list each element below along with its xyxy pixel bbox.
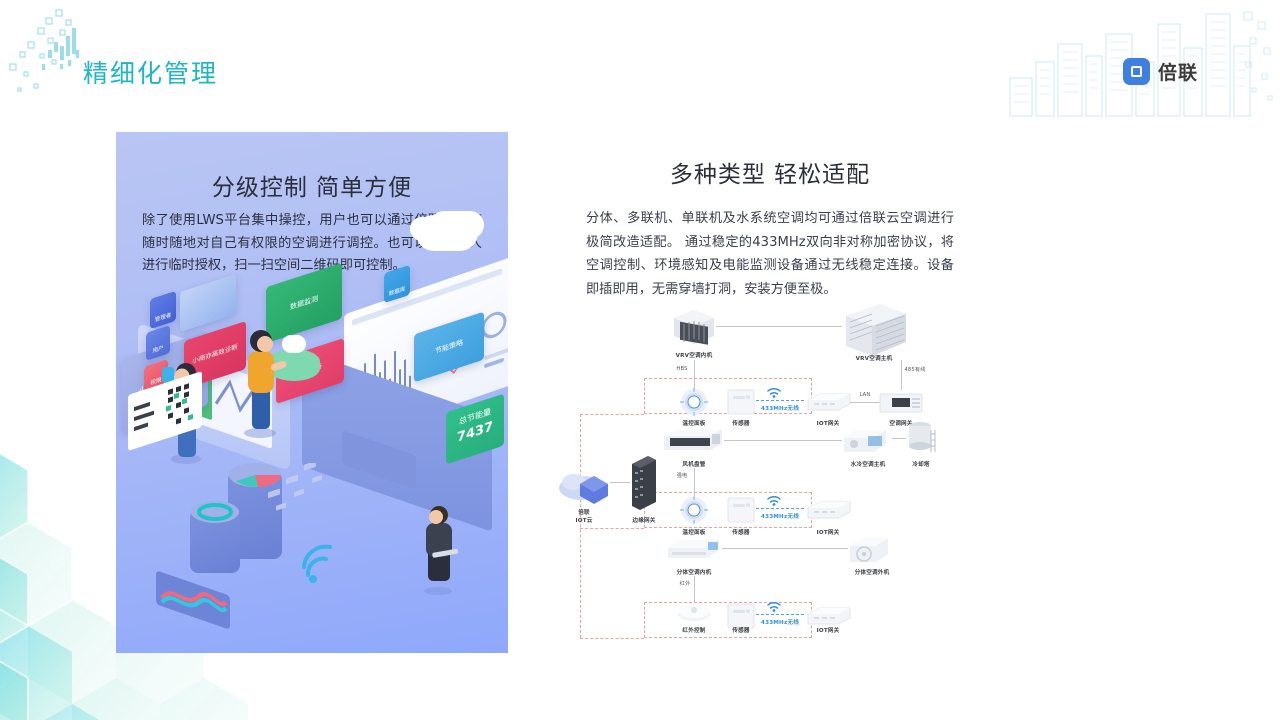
- edge-gateway-label: 边缘网关: [632, 516, 655, 524]
- row3-iot-gateway-label: IOT网关: [817, 626, 840, 634]
- sensor-icon: [726, 494, 756, 524]
- row1-hbs-label: HBS: [676, 366, 687, 372]
- group-connector: [580, 638, 644, 639]
- vrv-indoor-unit-icon: [670, 308, 718, 348]
- thermostat-panel-icon: [680, 388, 708, 416]
- person-illustration: [232, 325, 292, 443]
- edge-gateway-icon: [628, 452, 660, 512]
- data-transfer-dots: [266, 463, 346, 517]
- cloud-label-line2: IOT云: [575, 516, 592, 524]
- row2-rf-link: [756, 508, 804, 509]
- group-connector: [580, 414, 581, 638]
- wire-row1-485: [901, 360, 902, 390]
- row1-outdoor-label: VRV空调主机: [856, 354, 893, 362]
- row2-extra-label: 冷却塔: [912, 460, 929, 468]
- group-connector: [580, 414, 644, 415]
- page-header: 精细化管理 倍联: [0, 0, 1280, 118]
- rounded-square-icon: [1123, 58, 1150, 85]
- row3-rf-link: [756, 614, 804, 615]
- wire-row1-indoor-outdoor: [716, 326, 842, 327]
- row3-ir-link-label: 红外: [680, 580, 691, 587]
- row2-power-label: 强电: [677, 472, 688, 479]
- sensor-icon: [726, 386, 756, 416]
- split-outdoor-unit-icon: [846, 534, 894, 566]
- row2-outdoor-label: 水冷空调主机: [851, 460, 886, 468]
- network-topology-diagram: 倍联 IOT云 边缘网关 VRV空调内机: [548, 300, 968, 650]
- ac-gateway-icon: [878, 390, 924, 414]
- row1-lan-label: LAN: [859, 392, 870, 398]
- group-connector: [580, 528, 644, 529]
- wifi-icon: [766, 386, 782, 398]
- split-indoor-unit-icon: [664, 536, 724, 564]
- wire-row3-ir: [694, 576, 695, 602]
- slide-root: 精细化管理 倍联 分级控制 简单方便 除了使用LWS平台集中操控，用户也可以通过…: [0, 0, 1280, 720]
- row3-outdoor-label: 分体空调外机: [855, 568, 890, 576]
- row3-panel-label: 红外控制: [682, 626, 705, 634]
- wire-row3-indoor-outdoor: [722, 548, 848, 549]
- row1-indoor-label: VRV空调内机: [676, 351, 713, 359]
- water-cooled-chiller-icon: [840, 426, 894, 456]
- row2-iot-gateway-label: IOT网关: [817, 528, 840, 536]
- fan-coil-unit-icon: [660, 426, 726, 456]
- cloud-label-line1: 倍联: [578, 508, 590, 516]
- illustration-card: 管理者: [150, 291, 176, 329]
- person-illustration-seated: [412, 503, 466, 599]
- wifi-icon: [296, 537, 350, 583]
- wire-row1-hbs: [694, 360, 695, 390]
- wifi-icon: [766, 600, 782, 612]
- cloud-illustration: [416, 215, 478, 251]
- left-panel-heading: 分级控制 简单方便: [116, 168, 508, 202]
- row1-wireless-label: 433MHz无线: [761, 404, 799, 412]
- right-panel-heading: 多种类型 轻松适配: [560, 155, 980, 189]
- brand-logo: 倍联: [1123, 58, 1198, 85]
- left-panel-illustration: 小程序扫码调控 管理者 用户 权限 小商亦高效诊断 数据监测 数据分析 数据库: [116, 287, 508, 653]
- row2-wireless-label: 433MHz无线: [761, 512, 799, 520]
- iot-gateway-icon: [806, 606, 852, 626]
- wire-cloud-to-edge: [610, 482, 630, 483]
- wire-row2-indoor-chiller: [724, 440, 842, 441]
- page-title: 精细化管理: [83, 54, 218, 90]
- row2-sensor-label: 传感器: [732, 528, 749, 536]
- data-tray: [156, 570, 230, 629]
- cloud-iot-icon: [558, 468, 616, 504]
- wire-row2-power: [694, 468, 695, 496]
- infrared-controller-icon: [676, 600, 712, 622]
- wifi-icon: [766, 494, 782, 506]
- row3-sensor-label: 传感器: [732, 626, 749, 634]
- row2-indoor-label: 风机盘管: [682, 460, 705, 468]
- row3-wireless-label: 433MHz无线: [761, 618, 799, 626]
- vrv-outdoor-unit-icon: [840, 302, 912, 360]
- right-panel-body: 分体、多联机、单联机及水系统空调均可通过倍联云空调进行极简改造适配。 通过稳定的…: [586, 207, 954, 301]
- iot-gateway-icon: [806, 392, 852, 412]
- illustration-card: [180, 274, 236, 332]
- row1-iot-gateway-label: IOT网关: [817, 419, 840, 427]
- left-feature-panel: 分级控制 简单方便 除了使用LWS平台集中操控，用户也可以通过倍联小程序随时随地…: [116, 132, 508, 653]
- wire-row1-lan: [850, 402, 880, 403]
- row2-panel-label: 温控面板: [682, 528, 705, 536]
- row1-sensor-label: 传感器: [732, 419, 749, 427]
- iot-gateway-icon: [806, 500, 852, 520]
- donut-chart-icon: [190, 499, 240, 527]
- right-feature-column: 多种类型 轻松适配 分体、多联机、单联机及水系统空调均可通过倍联云空调进行极简改…: [560, 155, 980, 301]
- cooling-tower-icon: [904, 418, 938, 458]
- row1-485-label: 485有线: [904, 366, 925, 373]
- brand-name: 倍联: [1158, 58, 1198, 85]
- wire-row2-chiller-tower: [892, 438, 906, 439]
- row3-indoor-label: 分体空调内机: [677, 568, 712, 576]
- row1-rf-link: [756, 400, 804, 401]
- thermostat-panel-icon: [680, 496, 708, 524]
